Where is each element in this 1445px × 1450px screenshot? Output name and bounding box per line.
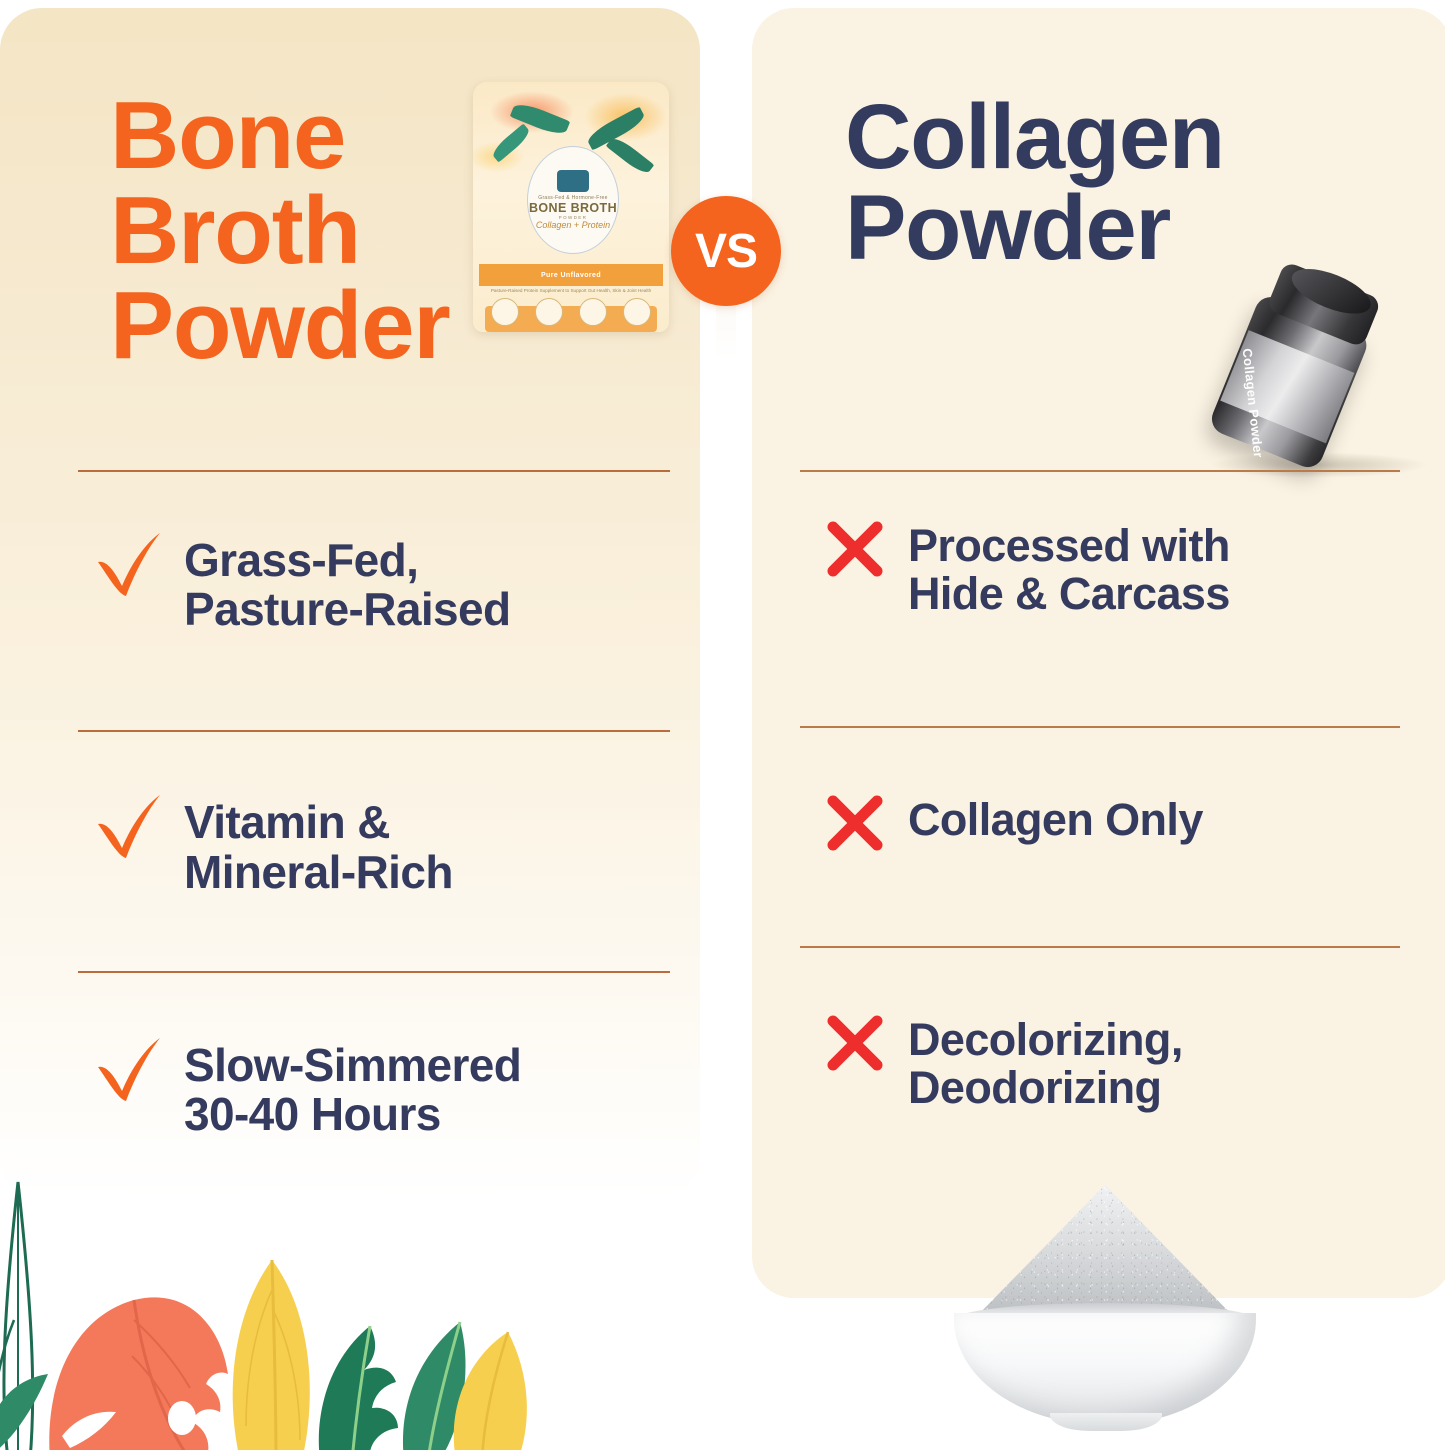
cross-icon: [824, 518, 908, 580]
brand-crest-icon: [557, 170, 589, 192]
right-title-line-1: Collagen: [845, 92, 1405, 183]
feature-line: Processed with: [908, 520, 1230, 571]
cross-icon: [824, 1012, 908, 1074]
feature-line: Vitamin &: [184, 796, 390, 848]
white-bowl-of-collagen-powder-image: [930, 1185, 1280, 1435]
feature-line: Decolorizing,: [908, 1014, 1183, 1065]
bag-flavor-band: Pure Unflavored: [479, 264, 663, 286]
bag-tagline: Collagen + Protein: [536, 220, 610, 230]
right-title-line-2: Powder: [845, 183, 1405, 274]
spacer: [78, 897, 670, 971]
bag-fine-print: Pasture-Raised Protein Supplement to Sup…: [483, 288, 659, 293]
feature-line: 30-40 Hours: [184, 1088, 441, 1140]
feature-label: Slow-Simmered 30-40 Hours: [184, 1033, 521, 1139]
feature-label: Processed with Hide & Carcass: [908, 518, 1230, 618]
feature-line: Slow-Simmered: [184, 1039, 521, 1091]
feature-line: Deodorizing: [908, 1062, 1161, 1113]
feature-label: Vitamin & Mineral-Rich: [184, 790, 453, 896]
feature-item: Grass-Fed, Pasture-Raised: [78, 472, 670, 634]
check-icon: [92, 1033, 184, 1109]
cross-icon: [824, 792, 908, 854]
bag-product-name: BONE BROTH: [529, 201, 617, 215]
feature-label: Collagen Only: [908, 792, 1203, 844]
feature-item: Decolorizing, Deodorizing: [800, 948, 1400, 1112]
bag-band-text: Pure Unflavored: [541, 272, 601, 279]
left-feature-list: Grass-Fed, Pasture-Raised Vitamin & Mine…: [78, 470, 670, 1139]
feature-line: Pasture-Raised: [184, 583, 511, 635]
spacer: [800, 854, 1400, 946]
feature-item: Collagen Only: [800, 728, 1400, 854]
spacer: [78, 634, 670, 730]
comparison-infographic: Bone Broth Powder Collagen Powder Grass-…: [0, 0, 1445, 1450]
bag-leaf-decor: [606, 134, 655, 177]
bag-leaf-decor: [490, 123, 533, 162]
feature-line: Collagen Only: [908, 794, 1203, 845]
bag-benefit-icons: [491, 298, 651, 326]
benefit-icon: [623, 298, 651, 326]
bone-broth-powder-bag-image: Grass-Fed & Hormone-Free BONE BROTH POWD…: [473, 82, 669, 332]
right-feature-list: Processed with Hide & Carcass Collagen O…: [800, 470, 1400, 1113]
check-icon: [92, 528, 184, 604]
spacer: [800, 618, 1400, 726]
feature-line: Mineral-Rich: [184, 846, 453, 898]
vs-badge-label: VS: [695, 224, 757, 279]
feature-item: Vitamin & Mineral-Rich: [78, 732, 670, 896]
right-panel-title: Collagen Powder: [845, 92, 1405, 274]
feature-item: Processed with Hide & Carcass: [800, 472, 1400, 618]
feature-label: Decolorizing, Deodorizing: [908, 1012, 1183, 1112]
feature-line: Hide & Carcass: [908, 568, 1230, 619]
benefit-icon: [579, 298, 607, 326]
bowl-body: [954, 1313, 1256, 1425]
feature-line: Grass-Fed,: [184, 534, 418, 586]
feature-label: Grass-Fed, Pasture-Raised: [184, 528, 511, 634]
powder-mound: [976, 1185, 1234, 1317]
vs-connector: [716, 300, 736, 360]
bowl-foot: [1050, 1413, 1162, 1431]
tropical-leaves-illustration: [0, 1160, 544, 1450]
bag-front-label: Grass-Fed & Hormone-Free BONE BROTH POWD…: [527, 146, 619, 254]
benefit-icon: [491, 298, 519, 326]
benefit-icon: [535, 298, 563, 326]
vs-badge-icon: VS: [671, 196, 781, 306]
feature-item: Slow-Simmered 30-40 Hours: [78, 973, 670, 1139]
check-icon: [92, 790, 184, 866]
